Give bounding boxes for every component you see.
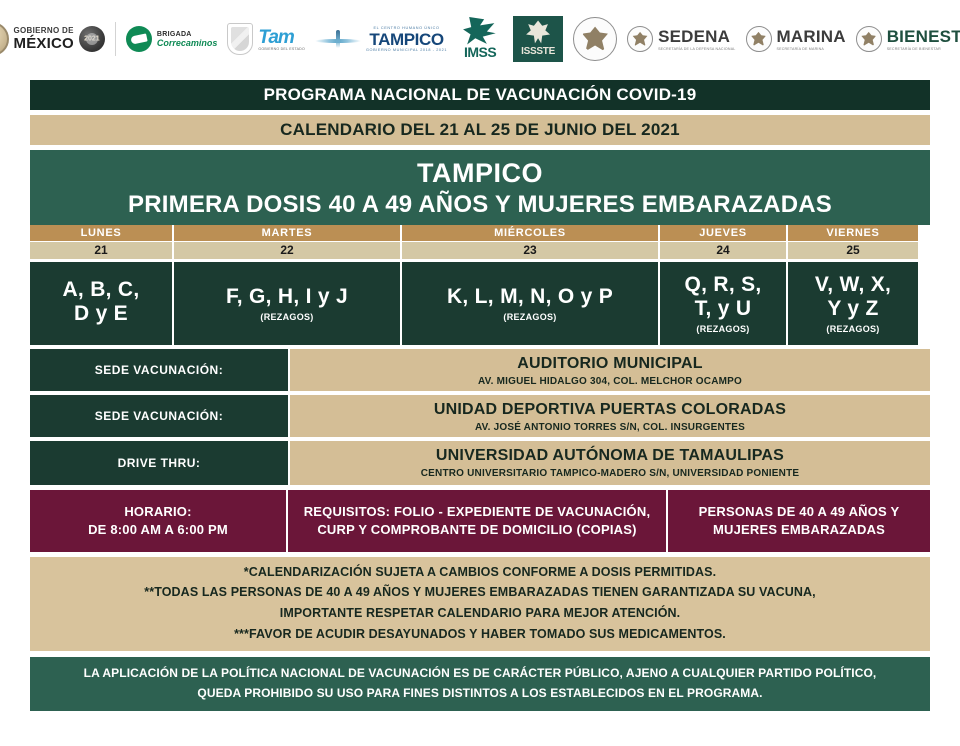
venue-name-3: UNIVERSIDAD AUTÓNOMA DE TAMAULIPAS: [294, 446, 926, 465]
letters-cell-miercoles: K, L, M, N, O y P (REZAGOS): [402, 259, 658, 345]
gobierno-federal-seal-icon: [573, 17, 617, 61]
calendar-banner: CALENDARIO DEL 21 AL 25 DE JUNIO DEL 202…: [30, 115, 930, 145]
day-name-jueves: JUEVES: [660, 225, 786, 241]
venue-address-2: AV. JOSÉ ANTONIO TORRES S/N, COL. INSURG…: [294, 422, 926, 433]
gobierno-de-mexico-logo: GOBIERNO DE MÉXICO 2021: [0, 22, 105, 56]
marina-logo: MARINA SECRETARÍA DE MARINA: [746, 26, 846, 52]
federal-eagle-icon: [582, 26, 609, 53]
day-number-jueves: 24: [660, 241, 786, 259]
imss-eagle-icon: [463, 17, 497, 45]
venue-row-puertas-coloradas: SEDE VACUNACIÓN: UNIDAD DEPORTIVA PUERTA…: [30, 395, 930, 437]
venue-address-1: AV. MIGUEL HIDALGO 304, COL. MELCHOR OCA…: [294, 376, 926, 387]
issste-label: ISSSTE: [513, 46, 563, 57]
notes-block: *CALENDARIZACIÓN SUJETA A CAMBIOS CONFOR…: [30, 557, 930, 652]
schedule-label: HORARIO:: [124, 503, 191, 521]
calendar-grid: LUNES 21 A, B, C,D y E MARTES 22 F, G, H…: [30, 225, 930, 345]
logo-divider: [115, 22, 116, 56]
imss-label: IMSS: [457, 45, 503, 59]
day-number-miercoles: 23: [402, 241, 658, 259]
calendar-column-viernes[interactable]: VIERNES 25 V, W, X,Y y Z (REZAGOS): [786, 225, 918, 345]
poster-root: GOBIERNO DE MÉXICO 2021 BRIGADA Correcam…: [0, 0, 960, 746]
bienestar-seal-icon: [856, 26, 882, 52]
schedule-value: DE 8:00 AM A 6:00 PM: [88, 521, 228, 539]
info-row: HORARIO: DE 8:00 AM A 6:00 PM REQUISITOS…: [30, 490, 930, 552]
mexico-eagle-seal-icon: [0, 22, 9, 56]
venue-label-3: DRIVE THRU:: [30, 441, 288, 485]
marina-sublabel: SECRETARÍA DE MARINA: [777, 47, 846, 51]
letters-cell-viernes: V, W, X,Y y Z (REZAGOS): [788, 259, 918, 345]
tamaulipas-shield-icon: [227, 23, 253, 55]
venue-label-1: SEDE VACUNACIÓN:: [30, 349, 288, 391]
day-name-miercoles: MIÉRCOLES: [402, 225, 658, 241]
day-number-martes: 22: [174, 241, 400, 259]
letters-viernes: V, W, X,Y y Z: [815, 273, 891, 321]
tamaulipas-logo: Tam GOBIERNO DEL ESTADO: [227, 23, 305, 55]
venue-body-1: AUDITORIO MUNICIPAL AV. MIGUEL HIDALGO 3…: [288, 349, 930, 391]
letters-jueves: Q, R, S,T, y U: [684, 273, 761, 321]
sedena-label: SEDENA: [658, 28, 735, 45]
title-banner: TAMPICO PRIMERA DOSIS 40 A 49 AÑOS Y MUJ…: [30, 150, 930, 225]
letters-martes: F, G, H, I y J: [226, 285, 348, 309]
venue-name-2: UNIDAD DEPORTIVA PUERTAS COLORADAS: [294, 400, 926, 419]
brigada-correcaminos-logo: BRIGADA Correcaminos: [126, 26, 218, 52]
correcaminos-bird-icon: [126, 26, 152, 52]
day-number-lunes: 21: [30, 241, 172, 259]
calendar-column-lunes[interactable]: LUNES 21 A, B, C,D y E: [30, 225, 172, 345]
legal-footer: LA APLICACIÓN DE LA POLÍTICA NACIONAL DE…: [30, 657, 930, 711]
tampico-sublabel: GOBIERNO MUNICIPAL 2018 - 2021: [366, 49, 447, 53]
day-name-viernes: VIERNES: [788, 225, 918, 241]
venue-row-auditorio: SEDE VACUNACIÓN: AUDITORIO MUNICIPAL AV.…: [30, 349, 930, 391]
mexico-label: MÉXICO: [14, 36, 74, 51]
note-line-3: IMPORTANTE RESPETAR CALENDARIO PARA MEJO…: [40, 606, 920, 622]
program-banner: PROGRAMA NACIONAL DE VACUNACIÓN COVID-19: [30, 80, 930, 110]
marina-eagle-icon: [751, 31, 766, 46]
issste-logo: ISSSTE: [513, 16, 563, 62]
day-number-viernes: 25: [788, 241, 918, 259]
year-seal-icon: 2021: [79, 26, 105, 52]
letters-cell-lunes: A, B, C,D y E: [30, 259, 172, 345]
bienestar-logo: BIENESTAR SECRETARÍA DE BIENESTAR: [856, 26, 960, 52]
marina-label: MARINA: [777, 28, 846, 45]
issste-emblem-icon: [525, 20, 551, 46]
day-name-lunes: LUNES: [30, 225, 172, 241]
sedena-seal-icon: [627, 26, 653, 52]
tam-sublabel: GOBIERNO DEL ESTADO: [258, 47, 305, 51]
correcaminos-label: Correcaminos: [157, 38, 218, 48]
bienestar-label: BIENESTAR: [887, 28, 960, 45]
calendar-column-martes[interactable]: MARTES 22 F, G, H, I y J (REZAGOS): [172, 225, 400, 345]
tampico-municipal-logo: EL CENTRO HUMANO ÚNICO TAMPICO GOBIERNO …: [315, 26, 447, 53]
footer-line-1: LA APLICACIÓN DE LA POLÍTICA NACIONAL DE…: [42, 666, 918, 682]
sedena-logo: SEDENA SECRETARÍA DE LA DEFENSA NACIONAL: [627, 26, 735, 52]
calendar-column-miercoles[interactable]: MIÉRCOLES 23 K, L, M, N, O y P (REZAGOS): [400, 225, 658, 345]
tampico-label: TAMPICO: [366, 31, 447, 48]
calendar-column-jueves[interactable]: JUEVES 24 Q, R, S,T, y U (REZAGOS): [658, 225, 786, 345]
brigada-label: BRIGADA: [157, 31, 218, 38]
city-title: TAMPICO: [30, 158, 930, 189]
venue-body-3: UNIVERSIDAD AUTÓNOMA DE TAMAULIPAS CENTR…: [288, 441, 930, 485]
tampico-bridge-icon: [315, 30, 361, 48]
note-line-1: *CALENDARIZACIÓN SUJETA A CAMBIOS CONFOR…: [40, 565, 920, 581]
marina-seal-icon: [746, 26, 772, 52]
bienestar-sublabel: SECRETARÍA DE BIENESTAR: [887, 47, 960, 51]
venue-label-2: SEDE VACUNACIÓN:: [30, 395, 288, 437]
dose-subtitle: PRIMERA DOSIS 40 A 49 AÑOS Y MUJERES EMB…: [30, 191, 930, 219]
venue-name-1: AUDITORIO MUNICIPAL: [294, 354, 926, 373]
gobierno-label: GOBIERNO DE: [14, 27, 74, 35]
sedena-sublabel: SECRETARÍA DE LA DEFENSA NACIONAL: [658, 47, 735, 51]
audience-cell: PERSONAS DE 40 A 49 AÑOS Y MUJERES EMBAR…: [666, 490, 930, 552]
rezagos-miercoles: (REZAGOS): [503, 312, 556, 322]
rezagos-martes: (REZAGOS): [260, 312, 313, 322]
institutional-logo-strip: GOBIERNO DE MÉXICO 2021 BRIGADA Correcam…: [0, 0, 960, 78]
tam-label: Tam: [258, 28, 305, 47]
year-label: 2021: [79, 36, 105, 43]
letters-lunes: A, B, C,D y E: [62, 278, 139, 326]
venue-address-3: CENTRO UNIVERSITARIO TAMPICO-MADERO S/N,…: [294, 468, 926, 479]
imss-logo: IMSS: [457, 17, 503, 61]
letters-cell-martes: F, G, H, I y J (REZAGOS): [174, 259, 400, 345]
bienestar-eagle-icon: [861, 31, 876, 46]
rezagos-viernes: (REZAGOS): [826, 324, 879, 334]
venue-row-drive-thru: DRIVE THRU: UNIVERSIDAD AUTÓNOMA DE TAMA…: [30, 441, 930, 485]
sedena-eagle-icon: [632, 31, 647, 46]
schedule-cell: HORARIO: DE 8:00 AM A 6:00 PM: [30, 490, 286, 552]
venue-body-2: UNIDAD DEPORTIVA PUERTAS COLORADAS AV. J…: [288, 395, 930, 437]
letters-miercoles: K, L, M, N, O y P: [447, 285, 613, 309]
day-name-martes: MARTES: [174, 225, 400, 241]
letters-cell-jueves: Q, R, S,T, y U (REZAGOS): [660, 259, 786, 345]
footer-line-2: QUEDA PROHIBIDO SU USO PARA FINES DISTIN…: [42, 686, 918, 702]
rezagos-jueves: (REZAGOS): [696, 324, 749, 334]
requirements-cell: REQUISITOS: FOLIO - EXPEDIENTE DE VACUNA…: [286, 490, 666, 552]
note-line-4: ***FAVOR DE ACUDIR DESAYUNADOS Y HABER T…: [40, 627, 920, 643]
note-line-2: **TODAS LAS PERSONAS DE 40 A 49 AÑOS Y M…: [40, 585, 920, 601]
